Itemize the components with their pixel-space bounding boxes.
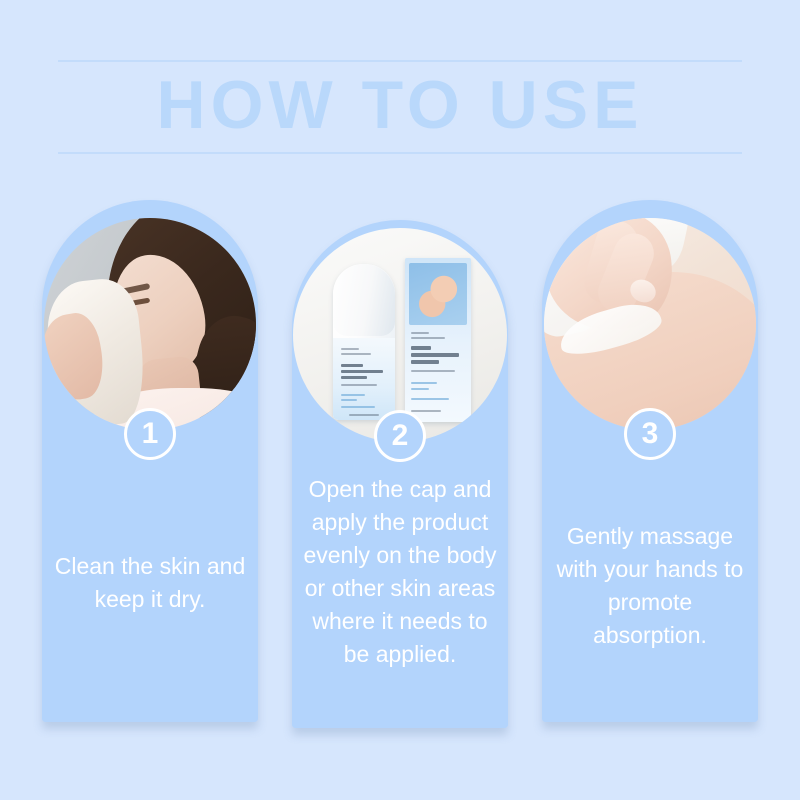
bottle-cap: [333, 264, 395, 336]
step-3-photo: [544, 218, 756, 430]
box-name-text-1: [411, 346, 431, 350]
bottle-detail-1: [341, 394, 365, 396]
bottle-name-text-1: [341, 364, 363, 367]
bottle-brand-text: [341, 348, 359, 350]
box-detail-2: [411, 388, 429, 390]
bottle-name-text-2: [341, 370, 383, 373]
step-number-badge-2: 2: [374, 410, 426, 462]
bottle-label: [333, 338, 395, 420]
step-card-2: 2 Open the cap and apply the product eve…: [292, 220, 508, 728]
product-bottle: [333, 264, 395, 420]
box-artwork: [409, 263, 467, 325]
box-name-text-2: [411, 353, 459, 357]
step-number-badge-3: 3: [624, 408, 676, 460]
box-net-weight-text: [411, 410, 441, 412]
step-card-1: 1 Clean the skin and keep it dry.: [42, 200, 258, 722]
step-caption-2: Open the cap and apply the product evenl…: [300, 473, 500, 671]
bottle-detail-3: [341, 406, 375, 408]
step-card-3: 3 Gently massage with your hands to prom…: [542, 200, 758, 722]
bottle-name-text-3: [341, 376, 367, 379]
product-box: [405, 258, 471, 422]
step-number-badge-1: 1: [124, 408, 176, 460]
step-caption-1: Clean the skin and keep it dry.: [50, 550, 250, 616]
box-subtitle-text: [411, 370, 455, 372]
box-detail-3: [411, 398, 449, 400]
box-name-text-3: [411, 360, 439, 364]
bottle-subtitle-text: [341, 384, 377, 386]
box-detail-1: [411, 382, 437, 384]
bottle-net-weight-text: [349, 414, 379, 416]
step-1-photo: [44, 218, 256, 430]
steps-container: 1 Clean the skin and keep it dry.: [0, 0, 800, 800]
bottle-detail-2: [341, 399, 357, 401]
box-line-text: [411, 337, 445, 339]
box-brand-text: [411, 332, 429, 334]
step-caption-3: Gently massage with your hands to promot…: [550, 520, 750, 652]
bottle-line-text: [341, 353, 371, 355]
